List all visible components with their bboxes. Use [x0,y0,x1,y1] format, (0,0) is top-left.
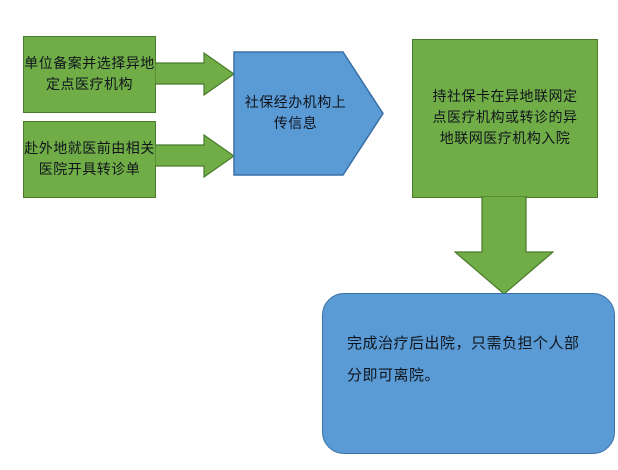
node-discharge-label: 完成治疗后出院，只需负担个人部分即可离院。 [323,294,614,391]
arrow-down-icon [454,196,554,295]
node-upload[interactable]: 社保经办机构上传信息 [233,51,384,176]
node-unit-record[interactable]: 单位备案并选择异地定点医疗机构 [23,36,156,113]
arrow-right-icon [155,134,235,178]
node-unit-record-label: 单位备案并选择异地定点医疗机构 [24,54,155,96]
flowchart-canvas: 单位备案并选择异地定点医疗机构 赴外地就医前由相关医院开具转诊单 社保经办机构上… [0,0,618,470]
arrow-right-icon [155,52,235,96]
node-referral-form-label: 赴外地就医前由相关医院开具转诊单 [24,139,155,181]
node-discharge[interactable]: 完成治疗后出院，只需负担个人部分即可离院。 [322,293,615,454]
arrow-right-icon-referral-to-upload [155,134,235,178]
node-referral-form[interactable]: 赴外地就医前由相关医院开具转诊单 [23,121,156,198]
node-upload-label: 社保经办机构上传信息 [242,93,350,135]
node-admission-label: 持社保卡在异地联网定点医疗机构或转诊的异地联网医疗机构入院 [430,87,580,150]
arrow-down-icon-admission-to-discharge [454,196,554,295]
arrow-right-icon-unit-to-upload [155,52,235,96]
node-admission[interactable]: 持社保卡在异地联网定点医疗机构或转诊的异地联网医疗机构入院 [412,39,598,198]
